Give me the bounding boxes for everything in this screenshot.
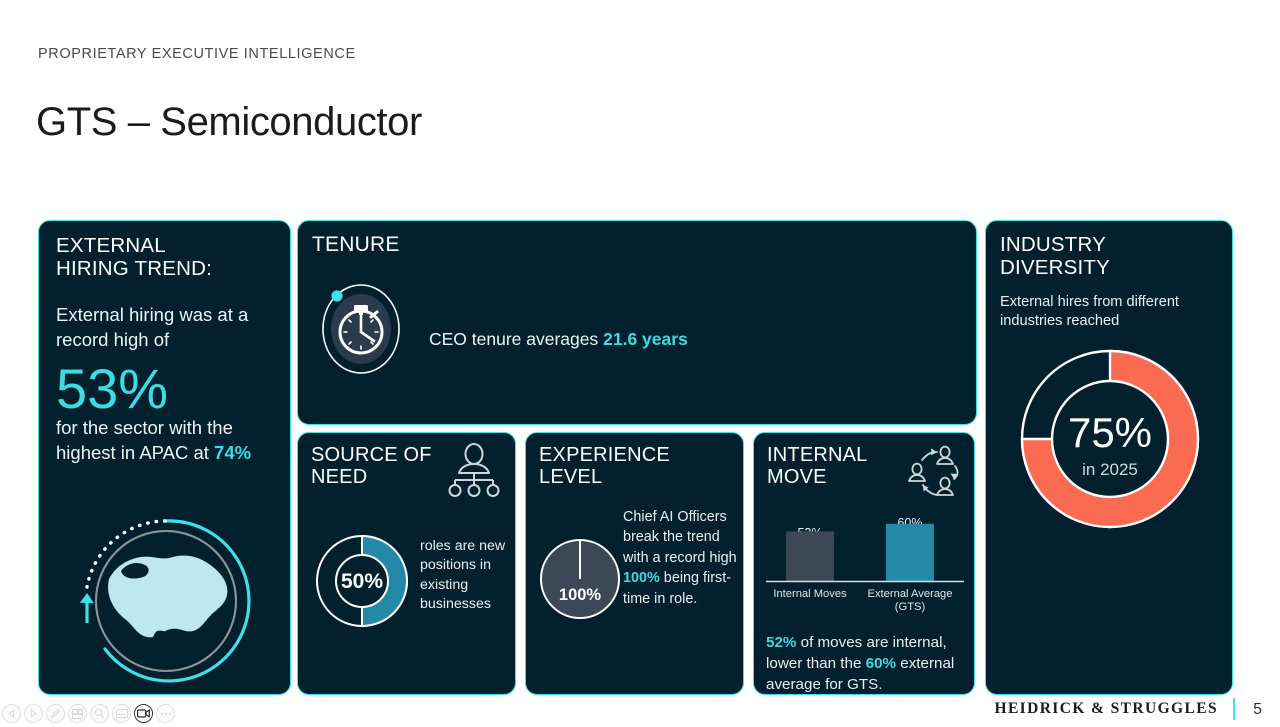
bar-label-external-average-sub: (GTS) xyxy=(895,601,926,613)
experience-level-description: Chief AI Officers break the trend with a… xyxy=(623,507,739,609)
external-average-pct: 60% xyxy=(866,655,896,672)
card-title-tenure: TENURE xyxy=(312,233,400,257)
bar-internal-moves xyxy=(786,531,834,581)
industry-diversity-subtitle: External hires from different industries… xyxy=(1000,293,1222,331)
magnifier-icon[interactable] xyxy=(90,704,109,723)
presentation-controls xyxy=(2,704,175,723)
experience-highlight: 100% xyxy=(623,570,660,586)
experience-text-a: Chief AI Officers break the trend with a… xyxy=(623,509,737,566)
industry-diversity-caption: in 2025 xyxy=(1082,460,1138,479)
caption-icon[interactable] xyxy=(112,704,131,723)
experience-level-pie-chart: 100% xyxy=(538,537,622,621)
internal-move-pct: 52% xyxy=(766,634,796,651)
external-hiring-tail: for the sector with the highest in APAC … xyxy=(56,416,284,465)
card-tenure: TENURE CEO tenure averages xyxy=(297,220,977,425)
internal-move-bar-chart: 52% 60% Internal Moves External Average … xyxy=(762,511,968,631)
card-industry-diversity: INDUSTRY DIVERSITY External hires from d… xyxy=(985,220,1233,695)
org-chart-icon xyxy=(445,443,503,499)
external-hiring-lead: External hiring was at a record high of xyxy=(56,303,276,352)
pen-icon[interactable] xyxy=(46,704,65,723)
play-triangle-icon[interactable] xyxy=(24,704,43,723)
external-hiring-value: 53% xyxy=(56,361,168,417)
tenure-value: 21.6 years xyxy=(603,329,688,349)
bar-label-internal-moves: Internal Moves xyxy=(773,588,847,600)
card-title-source-of-need: SOURCE OF NEED xyxy=(311,444,432,489)
card-title-experience-level: EXPERIENCE LEVEL xyxy=(539,444,670,489)
card-internal-move: INTERNAL MOVE xyxy=(753,432,975,695)
card-title-internal-move: INTERNAL MOVE xyxy=(767,444,868,489)
video-camera-icon[interactable] xyxy=(134,704,153,723)
card-title-external-hiring: EXTERNAL HIRING TREND: xyxy=(56,235,212,281)
industry-diversity-donut-chart: 75% in 2025 xyxy=(1012,341,1208,537)
card-external-hiring-trend: EXTERNAL HIRING TREND: External hiring w… xyxy=(38,220,291,695)
external-hiring-tail-text: for the sector with the highest in APAC … xyxy=(56,417,233,463)
page-title: GTS – Semiconductor xyxy=(36,100,422,145)
bar-external-average xyxy=(886,524,934,581)
card-source-of-need: SOURCE OF NEED xyxy=(297,432,516,695)
industry-diversity-value: 75% xyxy=(1068,409,1152,456)
page-number: 5 xyxy=(1253,701,1262,719)
brand-divider xyxy=(1233,698,1235,720)
source-of-need-description: roles are new positions in existing busi… xyxy=(420,537,512,614)
card-title-industry-diversity: INDUSTRY DIVERSITY xyxy=(1000,234,1110,280)
source-of-need-donut-chart: 50% xyxy=(310,529,414,633)
brand-wordmark: HEIDRICK & STRUGGLES xyxy=(994,700,1218,718)
tenure-text-prefix: CEO tenure averages xyxy=(429,329,603,349)
tenure-statement: CEO tenure averages 21.6 years xyxy=(429,329,688,350)
ellipsis-icon[interactable] xyxy=(156,704,175,723)
eyebrow-label: PROPRIETARY EXECUTIVE INTELLIGENCE xyxy=(38,46,356,62)
prev-triangle-icon[interactable] xyxy=(2,704,21,723)
experience-level-value: 100% xyxy=(559,586,602,604)
stopwatch-icon xyxy=(318,277,404,377)
grid-icon[interactable] xyxy=(68,704,87,723)
card-experience-level: EXPERIENCE LEVEL 100% Chief AI Officers … xyxy=(525,432,744,695)
slide-root: PROPRIETARY EXECUTIVE INTELLIGENCE GTS –… xyxy=(0,0,1280,727)
external-hiring-apac-value: 74% xyxy=(214,442,251,463)
globe-rotating-icon xyxy=(61,511,271,686)
internal-move-description: 52% of moves are internal, lower than th… xyxy=(766,633,970,695)
people-cycle-icon xyxy=(904,443,962,499)
source-of-need-donut-value: 50% xyxy=(341,570,383,593)
bar-label-external-average: External Average xyxy=(868,588,953,600)
